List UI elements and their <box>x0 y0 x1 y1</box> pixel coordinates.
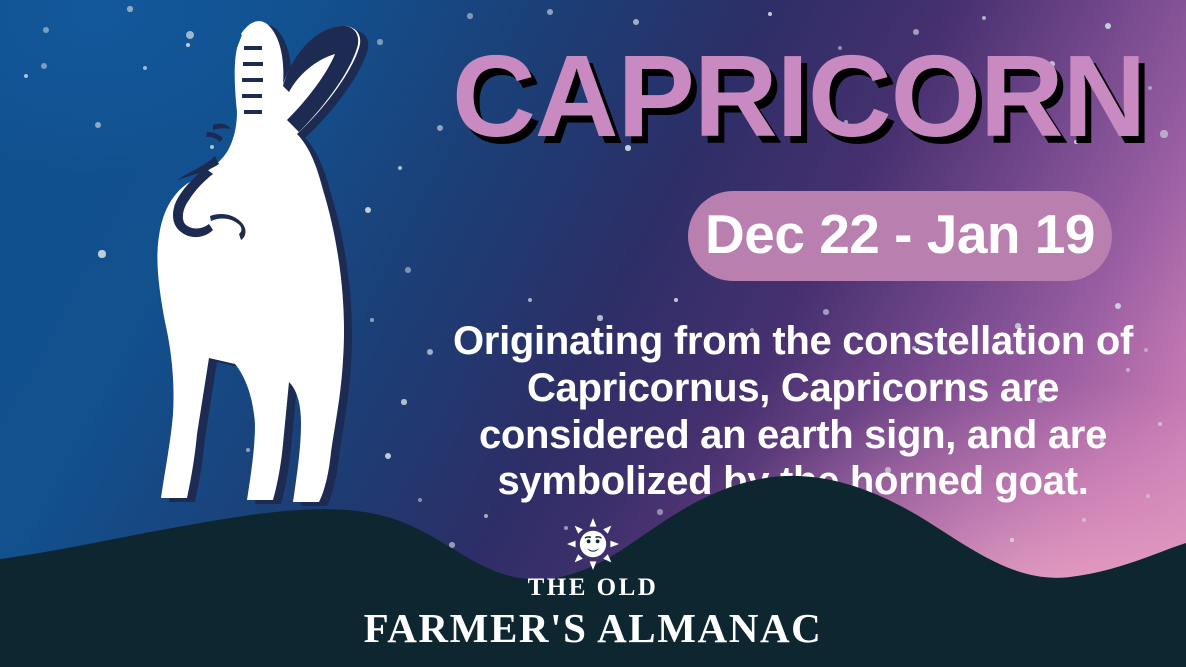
star <box>768 12 773 17</box>
page-title: CAPRICORN <box>452 38 1132 154</box>
star <box>43 27 49 33</box>
description-line: Capricornus, Capricorns are <box>440 365 1146 412</box>
logo-line-the-old: THE OLD <box>0 574 1186 603</box>
star <box>982 16 987 21</box>
star <box>1160 130 1167 137</box>
star <box>633 19 640 26</box>
star <box>24 74 28 78</box>
star <box>547 9 553 15</box>
sun-face-icon <box>567 518 619 570</box>
star <box>41 63 48 70</box>
date-range-badge: Dec 22 - Jan 19 <box>688 191 1112 281</box>
star <box>823 309 829 315</box>
date-range-label: Dec 22 - Jan 19 <box>705 207 1095 266</box>
logo-line-farmers-almanac: FARMER'S ALMANAC <box>0 604 1186 653</box>
star <box>1105 23 1111 29</box>
star <box>1158 422 1163 427</box>
star <box>674 298 679 303</box>
star <box>467 13 472 18</box>
brand-logo: THE OLD FARMER'S ALMANAC <box>0 518 1186 653</box>
star <box>1115 303 1121 309</box>
zodiac-card: CAPRICORN Dec 22 - Jan 19 Originating fr… <box>0 0 1186 667</box>
star <box>528 298 532 302</box>
description-line: Originating from the constellation of <box>440 318 1146 365</box>
star <box>1148 86 1153 91</box>
